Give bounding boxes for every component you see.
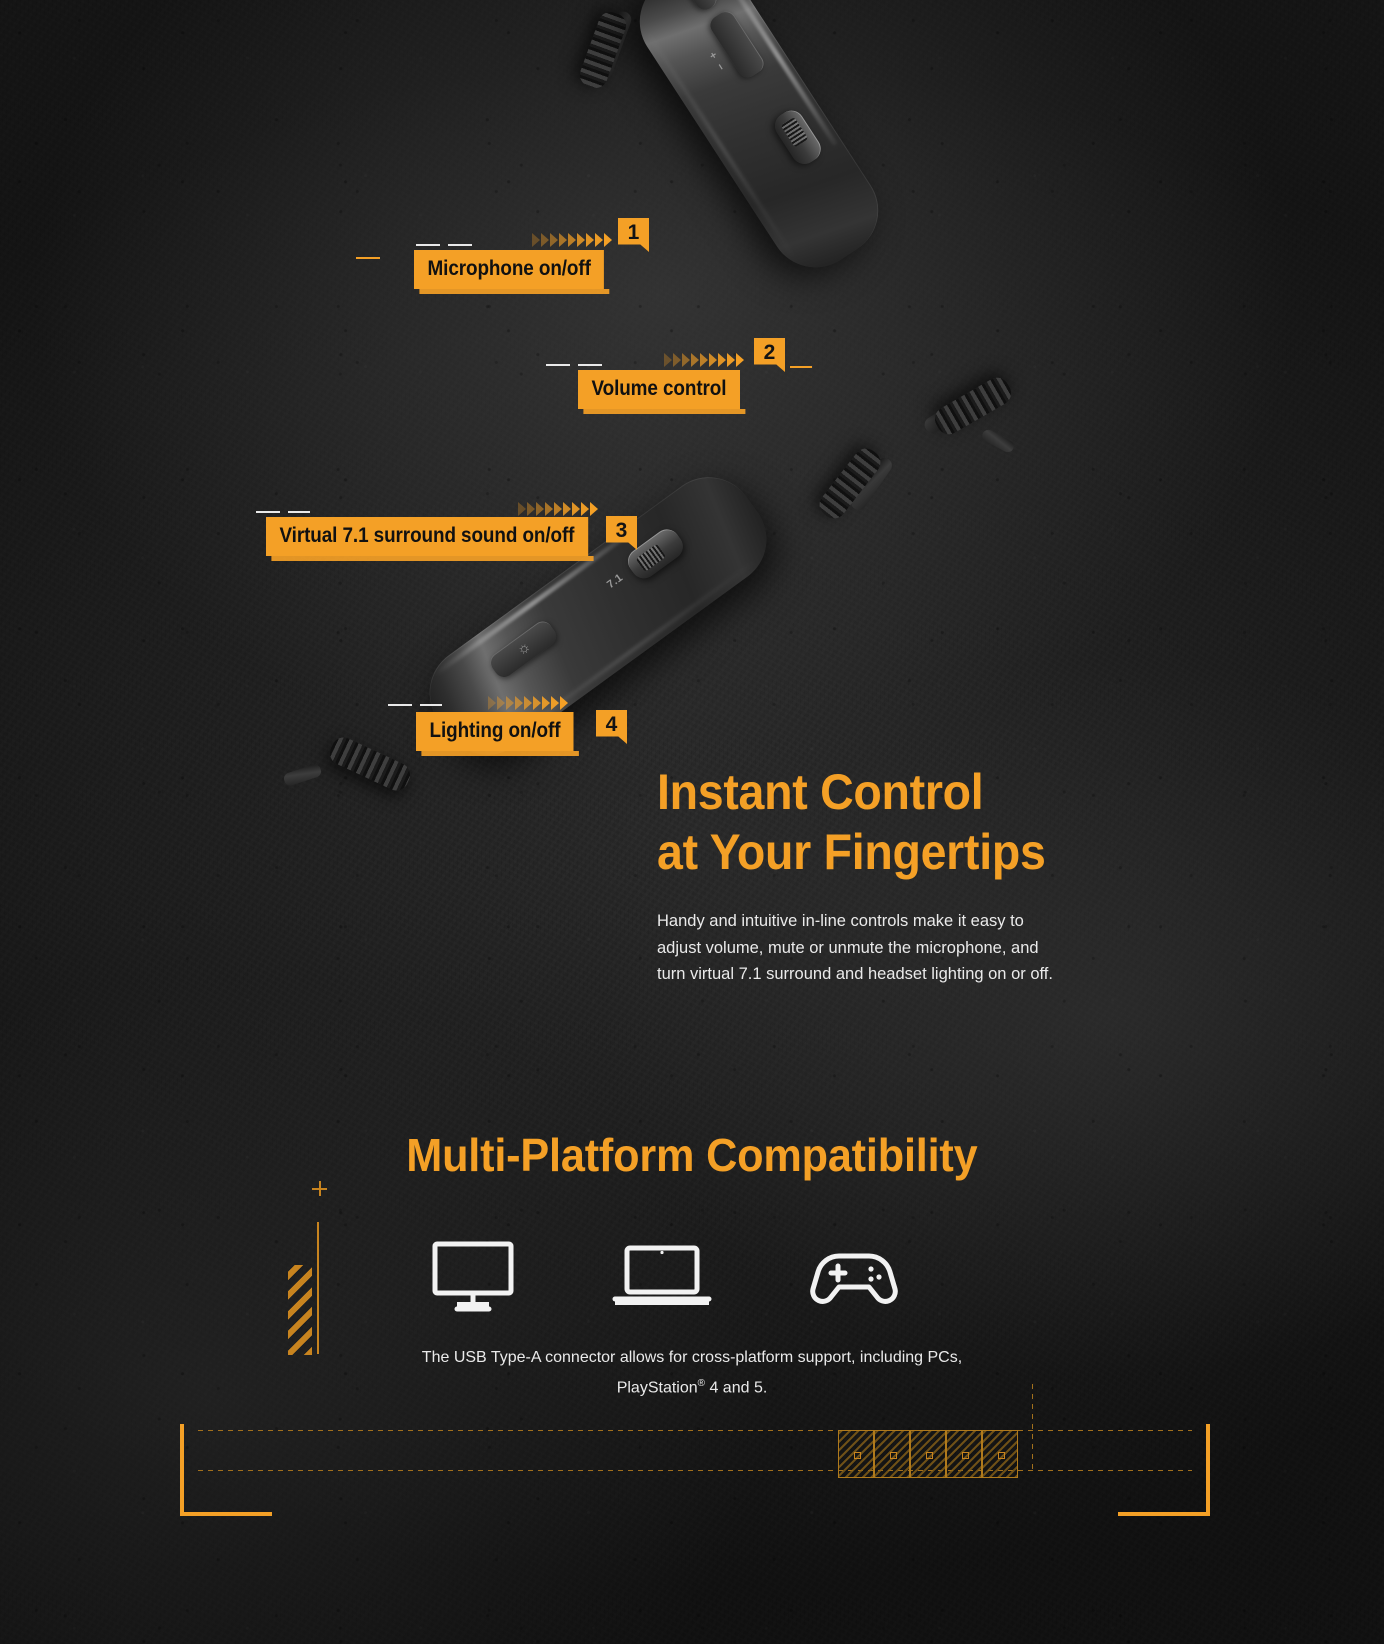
leader-dash-1a bbox=[416, 244, 440, 246]
instant-control-headline-line2: at Your Fingertips bbox=[657, 822, 1048, 882]
leader-dash-3b bbox=[288, 511, 310, 513]
multi-platform-title: Multi-Platform Compatibility bbox=[0, 1128, 1384, 1182]
multi-platform-title-text: Multi-Platform Compatibility bbox=[406, 1128, 977, 1182]
registered-trademark-symbol: ® bbox=[698, 1378, 705, 1389]
laptop-icon bbox=[610, 1242, 714, 1312]
instant-control-section: Instant Control at Your Fingertips Handy… bbox=[657, 762, 1077, 988]
caption-playstation-label: PlayStation bbox=[617, 1379, 698, 1396]
desktop-monitor-icon bbox=[430, 1239, 516, 1315]
callout-label-1: Microphone on/off bbox=[414, 250, 604, 289]
caption-line-2: PlayStation® 4 and 5. bbox=[292, 1371, 1092, 1401]
dotted-line-horizontal-1 bbox=[198, 1430, 1192, 1431]
instant-control-body-copy: Handy and intuitive in-line controls mak… bbox=[657, 908, 1069, 988]
strain-relief-boot-bottom-b bbox=[326, 734, 414, 795]
leader-dash-1b bbox=[448, 244, 472, 246]
plus-mark-decoration bbox=[312, 1181, 327, 1196]
mini-grid-decoration bbox=[838, 1430, 1018, 1478]
surround-slider-ribs bbox=[636, 544, 666, 572]
strain-relief-boot-top bbox=[577, 9, 630, 92]
chevron-arrow-3 bbox=[518, 502, 598, 516]
cable-tail bbox=[980, 428, 1016, 455]
mic-slider-button[interactable] bbox=[770, 106, 826, 169]
leader-dash-2b bbox=[578, 364, 602, 366]
vertical-line-decoration bbox=[317, 1222, 319, 1354]
multi-platform-caption: The USB Type-A connector allows for cros… bbox=[292, 1345, 1092, 1401]
volume-glyph: + − bbox=[706, 50, 727, 74]
leader-dash-3a bbox=[256, 511, 280, 513]
mini-grid-cell bbox=[982, 1430, 1018, 1478]
instant-control-headline-line1: Instant Control bbox=[657, 762, 1048, 822]
callout-label-4: Lighting on/off bbox=[416, 712, 574, 751]
hatched-stripes-decoration bbox=[288, 1265, 312, 1355]
mini-grid-cell bbox=[946, 1430, 982, 1478]
mini-grid-cell bbox=[910, 1430, 946, 1478]
chevron-arrow-4 bbox=[488, 696, 568, 710]
bottom-frame-decoration bbox=[180, 1424, 1210, 1554]
cable-tail-b bbox=[282, 763, 322, 787]
mini-grid-cell bbox=[874, 1430, 910, 1478]
dotted-line-horizontal-2 bbox=[198, 1470, 1192, 1471]
mini-grid-cell bbox=[838, 1430, 874, 1478]
chevron-arrow-2 bbox=[664, 353, 744, 367]
callout-label-3: Virtual 7.1 surround sound on/off bbox=[266, 517, 588, 556]
surround-button-top[interactable] bbox=[679, 0, 720, 14]
caption-playstation-versions: 4 and 5. bbox=[705, 1379, 767, 1396]
leader-dash-2a bbox=[546, 364, 570, 366]
leader-dash-4b bbox=[420, 704, 442, 706]
leader-dash-4a bbox=[388, 704, 412, 706]
leader-dash-2c bbox=[790, 366, 812, 368]
surround-71-glyph: 7.1 bbox=[605, 572, 625, 591]
gamepad-icon bbox=[808, 1246, 900, 1308]
chevron-arrow-1 bbox=[532, 233, 612, 247]
strain-relief-boot-bottom bbox=[930, 373, 1015, 438]
controller-body-top: + − bbox=[622, 0, 896, 285]
leader-dash-1c bbox=[356, 257, 380, 259]
mic-slider-ribs bbox=[781, 117, 809, 148]
caption-line-1: The USB Type-A connector allows for cros… bbox=[292, 1345, 1092, 1371]
platform-icon-row bbox=[430, 1232, 900, 1322]
callout-label-2: Volume control bbox=[578, 370, 740, 409]
